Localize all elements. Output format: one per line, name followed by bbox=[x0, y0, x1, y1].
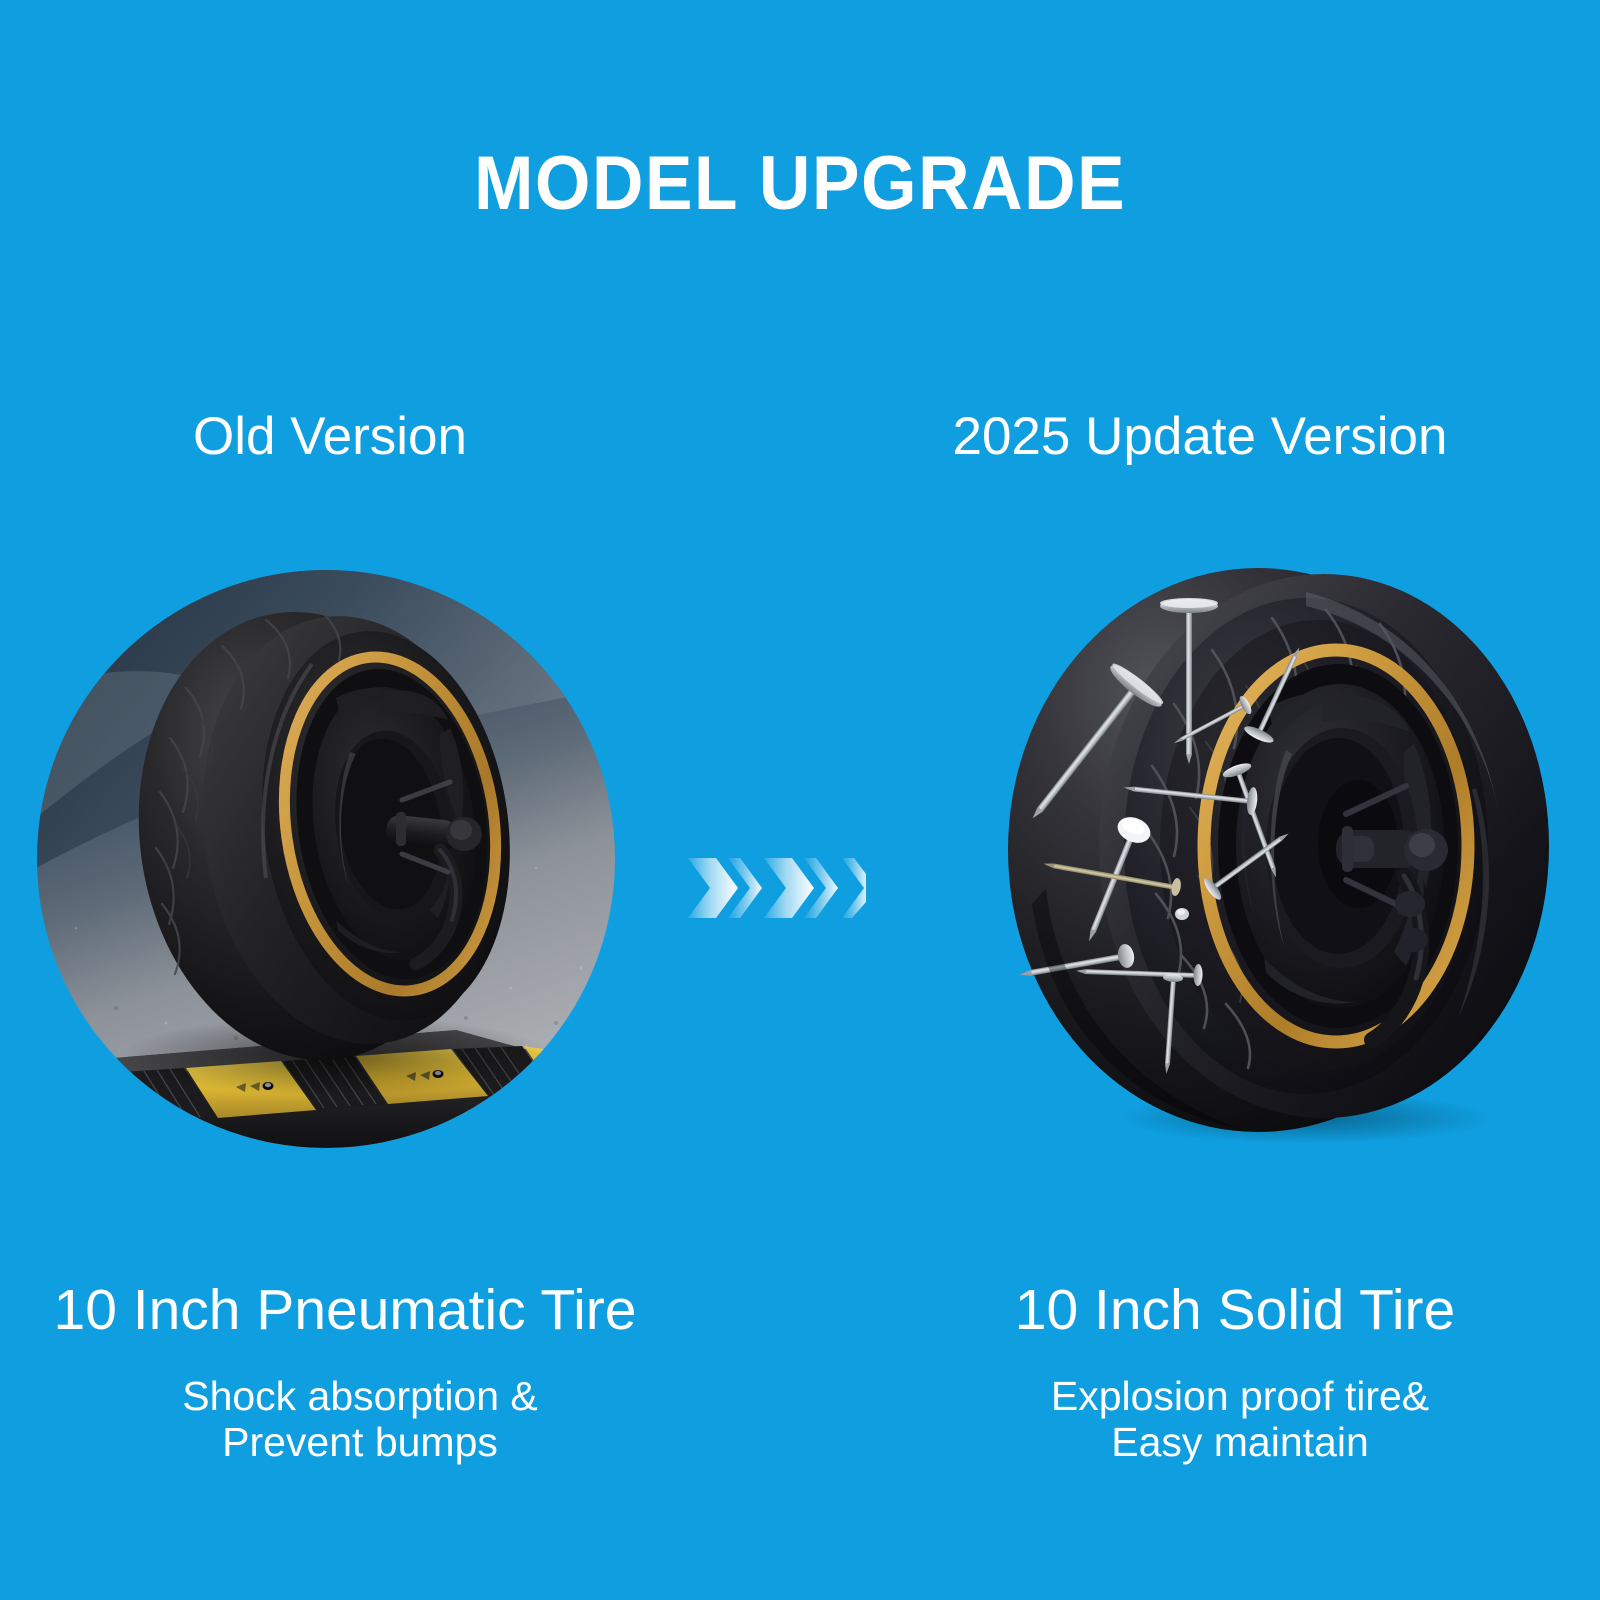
headline-pneumatic: 10 Inch Pneumatic Tire bbox=[0, 1282, 690, 1339]
infographic-page: { "theme": { "background_blue": "#0f9fe0… bbox=[0, 0, 1600, 1600]
subcaption-solid: Explosion proof tire& Easy maintain bbox=[935, 1374, 1545, 1466]
subcaption-line-1: Shock absorption & bbox=[30, 1374, 690, 1420]
subcaption-line-2: Prevent bumps bbox=[30, 1420, 690, 1466]
photo-content bbox=[36, 568, 616, 1150]
headline-solid: 10 Inch Solid Tire bbox=[905, 1282, 1565, 1339]
chevron-right-arrow-icon bbox=[688, 858, 866, 918]
subcaption-pneumatic: Shock absorption & Prevent bumps bbox=[30, 1374, 690, 1466]
axle bbox=[1336, 826, 1448, 872]
version-label-old: Old Version bbox=[0, 410, 660, 463]
subcaption-line-2: Easy maintain bbox=[935, 1420, 1545, 1466]
nail bbox=[1175, 908, 1189, 920]
solid-tire-render bbox=[1007, 568, 1549, 1132]
upgrade-arrow bbox=[686, 852, 866, 924]
page-title: MODEL UPGRADE bbox=[48, 146, 1552, 222]
subcaption-line-1: Explosion proof tire& bbox=[935, 1374, 1545, 1420]
pneumatic-tire-image bbox=[36, 568, 616, 1150]
version-label-new: 2025 Update Version bbox=[900, 410, 1500, 463]
solid-tire-image bbox=[1006, 558, 1574, 1148]
